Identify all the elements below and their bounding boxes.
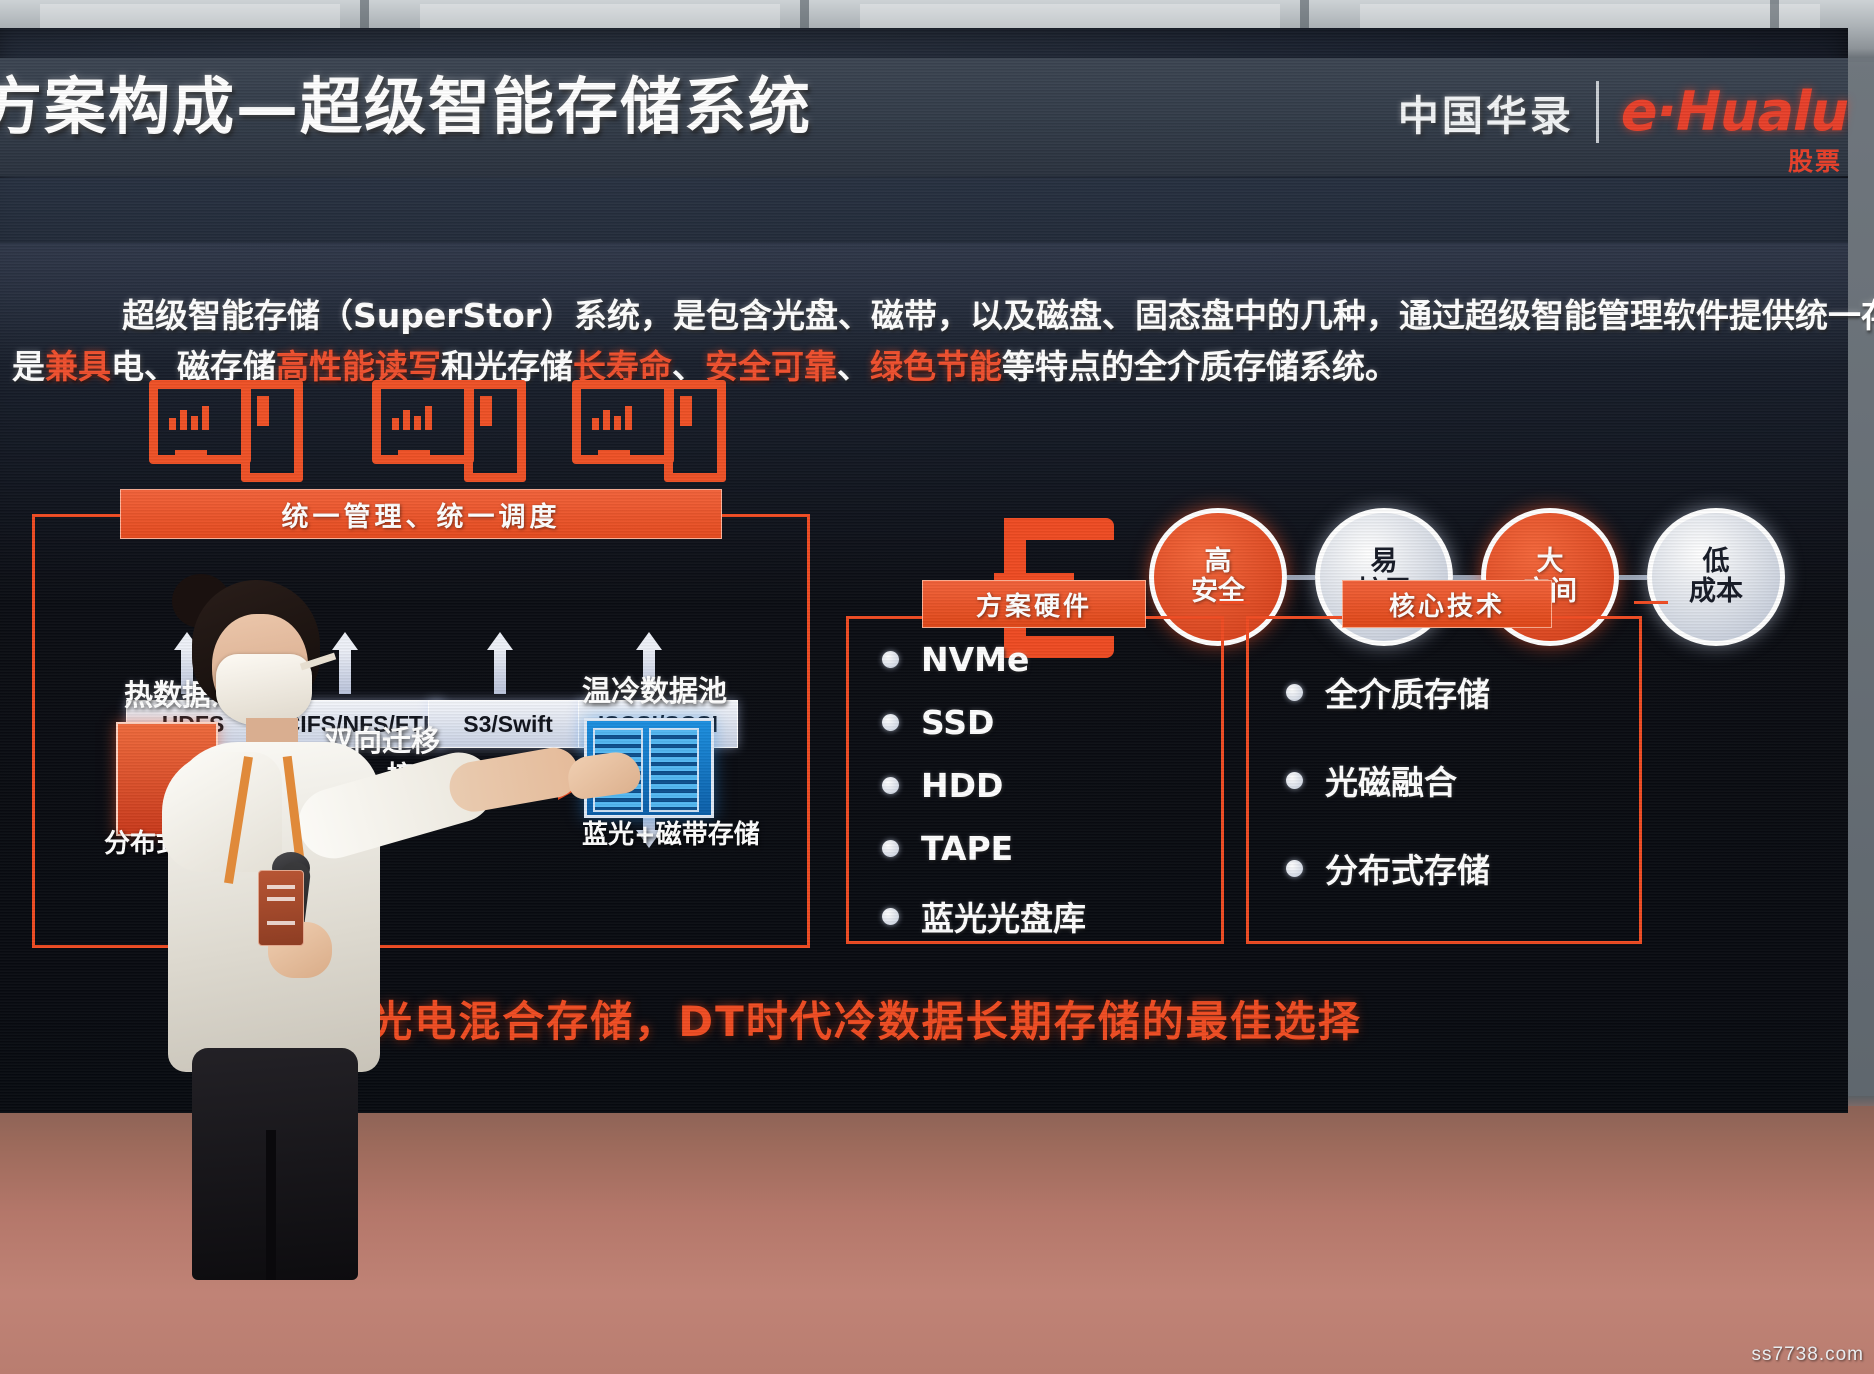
hardware-item-label: 蓝光光盘库 [921, 892, 1086, 940]
brand-divider [1596, 81, 1599, 143]
bullet-icon [882, 651, 899, 668]
list-item: 蓝光光盘库 [882, 892, 1086, 940]
hardware-item-label: HDD [921, 766, 1003, 805]
list-item: NVMe [882, 640, 1086, 679]
circle-connector [1619, 575, 1647, 580]
para2-hl-1: 兼具 [45, 347, 111, 386]
benefit-line-1: 大 [1537, 547, 1564, 577]
list-item: 分布式存储 [1286, 844, 1490, 892]
list-item: 光磁融合 [1286, 756, 1490, 804]
hardware-panel-header: 方案硬件 [922, 580, 1146, 628]
tech-list: 全介质存储 光磁融合 分布式存储 [1286, 668, 1490, 932]
server-icon [372, 380, 508, 472]
brand-logo: 中国华录 e·Hualu 股票 [1398, 80, 1848, 143]
list-item: SSD [882, 703, 1086, 742]
bullet-icon [1286, 684, 1303, 701]
unified-management-banner: 统一管理、统一调度 [120, 489, 722, 539]
panel-connector [1216, 601, 1250, 604]
para2-seg-1: 是 [12, 347, 45, 386]
face-mask [216, 654, 312, 726]
slide-paragraph: 超级智能存储（SuperStor）系统，是包含光盘、磁带，以及磁盘、固态盘中的几… [0, 290, 1874, 392]
hardware-panel-title: 方案硬件 [976, 586, 1092, 623]
bullet-icon [882, 840, 899, 857]
tech-item-label: 分布式存储 [1325, 844, 1490, 892]
brand-name-cn: 中国华录 [1398, 82, 1574, 142]
list-item: TAPE [882, 829, 1086, 868]
benefit-line-1: 低 [1703, 547, 1730, 577]
arrow-up-icon [487, 632, 513, 694]
list-item: 全介质存储 [1286, 668, 1490, 716]
para2-hl-5: 绿色节能 [870, 347, 1002, 386]
bullet-icon [882, 908, 899, 925]
shoulder [162, 752, 282, 872]
page-title: 方案构成—超级智能存储系统 [0, 76, 880, 138]
bullet-icon [1286, 772, 1303, 789]
para2-seg-5: 、 [837, 347, 870, 386]
server-icon [572, 380, 708, 472]
hardware-item-label: NVMe [921, 640, 1029, 679]
brand-subtext: 股票 [1788, 142, 1842, 178]
presenter [150, 570, 480, 1130]
paragraph-line-1: 超级智能存储（SuperStor）系统，是包含光盘、磁带，以及磁盘、固态盘中的几… [0, 290, 1874, 341]
photo-scene: 方案构成—超级智能存储系统 中国华录 e·Hualu 股票 超级智能存储（Sup… [0, 0, 1874, 1374]
circle-connector [1453, 575, 1481, 580]
bullet-icon [882, 777, 899, 794]
tech-item-label: 全介质存储 [1325, 668, 1490, 716]
name-badge [258, 870, 304, 946]
circle-connector [1287, 575, 1315, 580]
trouser-seam [266, 1130, 276, 1280]
panel-connector [1634, 601, 1668, 604]
benefit-line-1: 高 [1205, 547, 1232, 577]
cold-pool-sublabel: 蓝光+磁带存储 [582, 814, 760, 851]
benefit-circle-low-cost[interactable]: 低 成本 [1647, 508, 1785, 646]
watermark: ss7738.com [1752, 1344, 1864, 1366]
unified-management-label: 统一管理、统一调度 [282, 495, 561, 534]
tech-item-label: 光磁融合 [1325, 756, 1457, 804]
benefit-line-1: 易 [1371, 547, 1398, 577]
bullet-icon [1286, 860, 1303, 877]
para2-seg-6: 等特点的全介质存储系统。 [1002, 347, 1398, 386]
hardware-list: NVMe SSD HDD TAPE 蓝光光盘库 [882, 640, 1086, 964]
hardware-item-label: SSD [921, 703, 994, 742]
hardware-item-label: TAPE [921, 829, 1013, 868]
tech-panel-title: 核心技术 [1389, 586, 1505, 623]
brand-name-en: e·Hualu [1621, 80, 1848, 143]
list-item: HDD [882, 766, 1086, 805]
bullet-icon [882, 714, 899, 731]
benefit-line-2: 成本 [1689, 577, 1743, 607]
tech-panel-header: 核心技术 [1342, 580, 1552, 628]
cold-data-pool-label: 温冷数据池 [582, 668, 727, 710]
server-icon [149, 380, 285, 472]
